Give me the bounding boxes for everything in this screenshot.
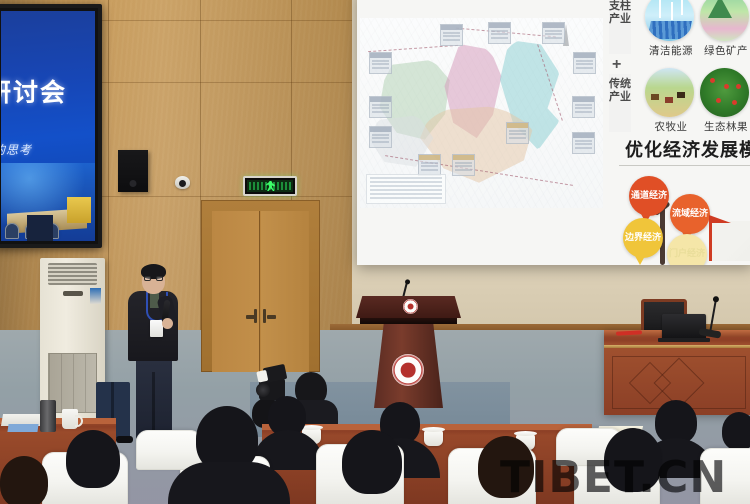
map-legend: [366, 174, 446, 204]
presenter-hand: [162, 318, 173, 329]
map-data-box: [572, 96, 595, 118]
audience-head: [342, 430, 402, 494]
industry-item-green-mineral: 绿色矿产: [700, 0, 750, 58]
map-data-box: [452, 154, 475, 176]
green-mountain-icon: [700, 0, 749, 41]
door-right-leaf[interactable]: [261, 211, 309, 372]
emergency-exit-sign: [243, 176, 297, 196]
industry-caption: 绿色矿产: [700, 43, 750, 58]
audience-head: [0, 456, 48, 504]
presenter-legs: [136, 356, 172, 440]
site-watermark: TIBET.CN: [500, 452, 727, 503]
audience-head: [722, 412, 750, 450]
door-left-leaf[interactable]: [212, 211, 260, 372]
industry-item-agriculture: 农牧业: [645, 68, 697, 134]
led-photo-band: [1, 163, 95, 241]
door-handle-right[interactable]: [263, 309, 266, 323]
camera-lens-icon: [256, 383, 270, 397]
map-data-box: [418, 154, 441, 176]
industry-item-forest-fruit: 生态林果: [700, 68, 750, 134]
industry-caption: 生态林果: [700, 119, 750, 134]
ac-display-slot: [63, 291, 83, 296]
led-display-panel: 术研讨会 高都的思考: [0, 4, 102, 248]
economy-heading: 优化经济发展模式: [625, 136, 750, 162]
ac-brand-badge: [90, 288, 101, 304]
led-subtitle: 高都的思考: [1, 141, 95, 158]
thermos-flask: [40, 400, 56, 432]
speaking-podium: [356, 296, 461, 408]
podium-emblem-small: [403, 299, 418, 314]
blue-folder: [7, 424, 38, 432]
map-data-box: [440, 24, 463, 46]
wall-speaker: [118, 150, 148, 192]
map-data-box: [573, 52, 596, 74]
pasture-icon: [645, 68, 694, 117]
audience-head: [66, 430, 120, 488]
section-divider: [619, 165, 750, 166]
industry-caption: 农牧业: [645, 119, 697, 134]
fruit-tree-icon: [700, 68, 749, 117]
economy-bubble-basin: 流域经济: [670, 194, 710, 234]
glasses-icon: [144, 276, 163, 281]
door-handle-right-bar[interactable]: [267, 315, 276, 319]
projection-screen: 支柱产业 + 传统产业 清洁能源 绿色矿产 农牧业 生态林果 优化经济发展模式 …: [357, 0, 750, 265]
door-handle-left-bar[interactable]: [246, 315, 255, 319]
economy-bubble-channel: 通道经济: [629, 176, 669, 216]
mug: [62, 409, 78, 429]
economy-bubble-border: 边界经济: [623, 218, 663, 258]
traditional-industry-label: 传统产业: [609, 74, 631, 132]
map-data-box: [542, 22, 565, 44]
map-data-box: [369, 52, 392, 74]
teacup: [424, 430, 443, 446]
map-data-box: [506, 122, 529, 144]
plus-sign: +: [612, 56, 621, 74]
slide-red-callout: [709, 221, 750, 261]
map-data-box: [369, 126, 392, 148]
solar-wind-icon: [645, 0, 694, 41]
double-door[interactable]: [201, 200, 320, 372]
economy-bubble-gateway: 门户经济: [667, 234, 707, 265]
map-data-box: [488, 22, 511, 44]
dome-security-camera: [175, 176, 190, 189]
tibet-map: [360, 18, 603, 208]
audience-shoulders: [168, 462, 290, 504]
ac-vent: [48, 263, 97, 285]
industry-item-clean-energy: 清洁能源: [645, 0, 697, 58]
industry-caption: 清洁能源: [645, 43, 697, 58]
podium-band: [360, 318, 457, 324]
led-screen-content: 术研讨会 高都的思考: [1, 11, 95, 241]
conference-photo: 术研讨会 高都的思考: [0, 0, 750, 504]
led-title: 术研讨会: [1, 73, 95, 109]
shoe: [116, 436, 133, 443]
map-data-box: [369, 96, 392, 118]
map-data-box: [572, 132, 595, 154]
pillar-industry-label: 支柱产业: [609, 0, 631, 54]
podium-emblem-large: [392, 354, 424, 386]
